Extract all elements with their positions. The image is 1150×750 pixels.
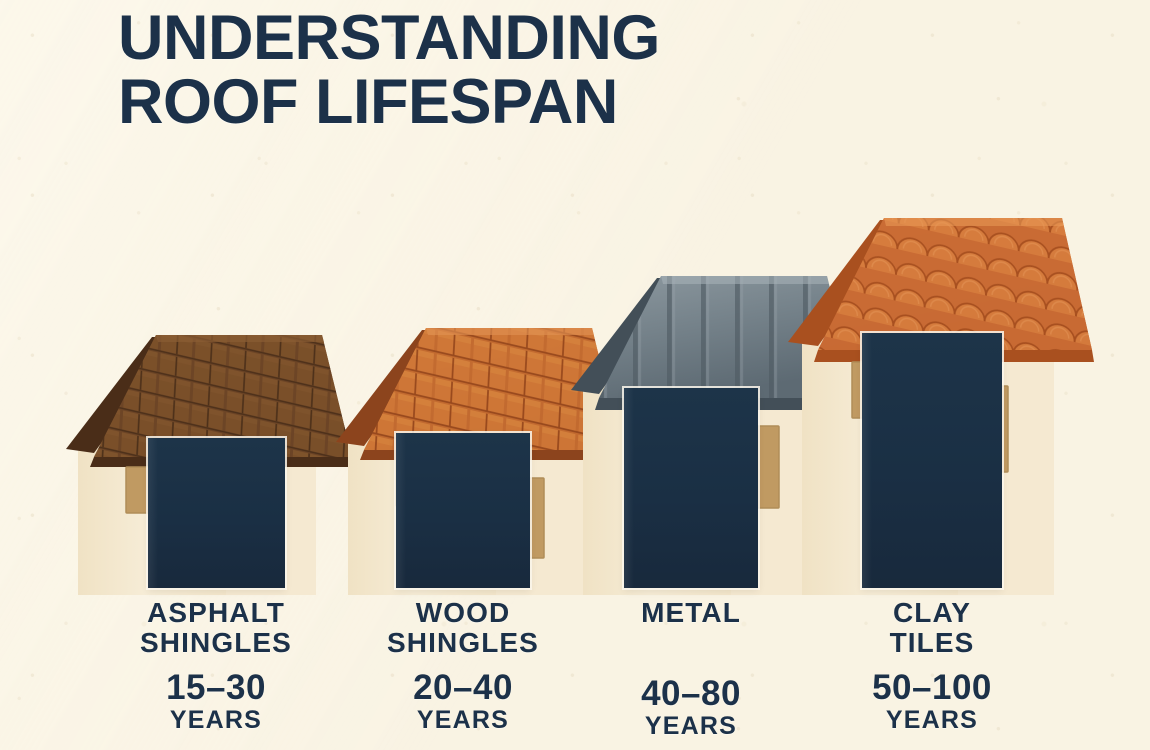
bar-clay	[862, 333, 1002, 588]
lifespan-unit-clay: YEARS	[812, 707, 1052, 735]
label-column-clay: CLAY TILES 50–100 YEARS	[812, 598, 1052, 735]
infographic-poster: UNDERSTANDING ROOF LIFESPAN	[0, 0, 1150, 750]
label-column-wood: WOOD SHINGLES 20–40 YEARS	[343, 598, 583, 735]
material-name-metal: METAL	[571, 598, 811, 628]
lifespan-range-asphalt: 15–30	[96, 670, 336, 705]
bar-sheen	[396, 433, 406, 588]
material-name-line: CLAY	[812, 598, 1052, 628]
material-name-clay: CLAY TILES	[812, 598, 1052, 658]
lifespan-range-metal: 40–80	[571, 676, 811, 711]
bar-sheen	[624, 388, 634, 588]
label-column-asphalt: ASPHALT SHINGLES 15–30 YEARS	[96, 598, 336, 735]
material-name-line: METAL	[571, 598, 811, 628]
material-name-line: SHINGLES	[343, 628, 583, 658]
bar-metal	[624, 388, 758, 588]
material-name-line: SHINGLES	[96, 628, 336, 658]
lifespan-unit-metal: YEARS	[571, 713, 811, 741]
lifespan-range-wood: 20–40	[343, 670, 583, 705]
lifespan-unit-wood: YEARS	[343, 707, 583, 735]
material-name-line: WOOD	[343, 598, 583, 628]
material-name-line: TILES	[812, 628, 1052, 658]
label-column-metal: METAL 40–80 YEARS	[571, 598, 811, 741]
lifespan-unit-asphalt: YEARS	[96, 707, 336, 735]
bar-asphalt	[148, 438, 285, 588]
material-name-line: ASPHALT	[96, 598, 336, 628]
material-name-asphalt: ASPHALT SHINGLES	[96, 598, 336, 658]
bar-sheen	[148, 438, 158, 588]
material-name-wood: WOOD SHINGLES	[343, 598, 583, 658]
bar-wood	[396, 433, 530, 588]
bar-sheen	[862, 333, 872, 588]
lifespan-range-clay: 50–100	[812, 670, 1052, 705]
